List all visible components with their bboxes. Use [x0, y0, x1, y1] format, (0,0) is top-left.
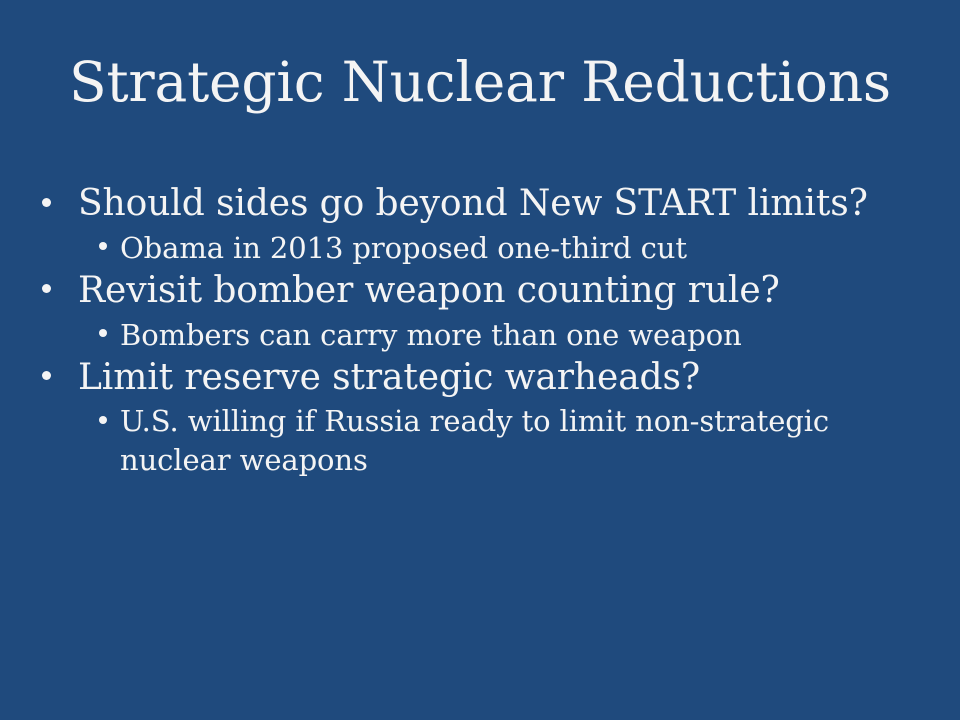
bullet-dot-icon: [36, 356, 78, 401]
bullet-item-level1: Should sides go beyond New START limits?: [36, 182, 936, 227]
bullet-item-level2: Obama in 2013 proposed one-third cut: [36, 229, 936, 267]
bullet-item-level1: Revisit bomber weapon counting rule?: [36, 269, 936, 314]
bullet-dot-icon: [36, 316, 120, 354]
bullet-text: Obama in 2013 proposed one-third cut: [120, 229, 920, 267]
bullet-item-level1: Limit reserve strategic warheads?: [36, 356, 936, 401]
bullet-dot-icon: [36, 402, 120, 440]
bullet-dot-icon: [36, 182, 78, 227]
bullet-dot-icon: [36, 269, 78, 314]
presentation-slide: Strategic Nuclear Reductions Should side…: [0, 0, 960, 720]
bullet-item-level2: U.S. willing if Russia ready to limit no…: [36, 402, 936, 479]
bullet-dot-icon: [36, 229, 120, 267]
bullet-text: Should sides go beyond New START limits?: [78, 182, 936, 227]
bullet-text: Limit reserve strategic warheads?: [78, 356, 936, 401]
bullet-item-level2: Bombers can carry more than one weapon: [36, 316, 936, 354]
slide-title: Strategic Nuclear Reductions: [0, 52, 960, 114]
bullet-text: U.S. willing if Russia ready to limit no…: [120, 402, 920, 479]
bullet-text: Bombers can carry more than one weapon: [120, 316, 920, 354]
slide-body-content: Should sides go beyond New START limits?…: [36, 182, 936, 481]
bullet-text: Revisit bomber weapon counting rule?: [78, 269, 936, 314]
